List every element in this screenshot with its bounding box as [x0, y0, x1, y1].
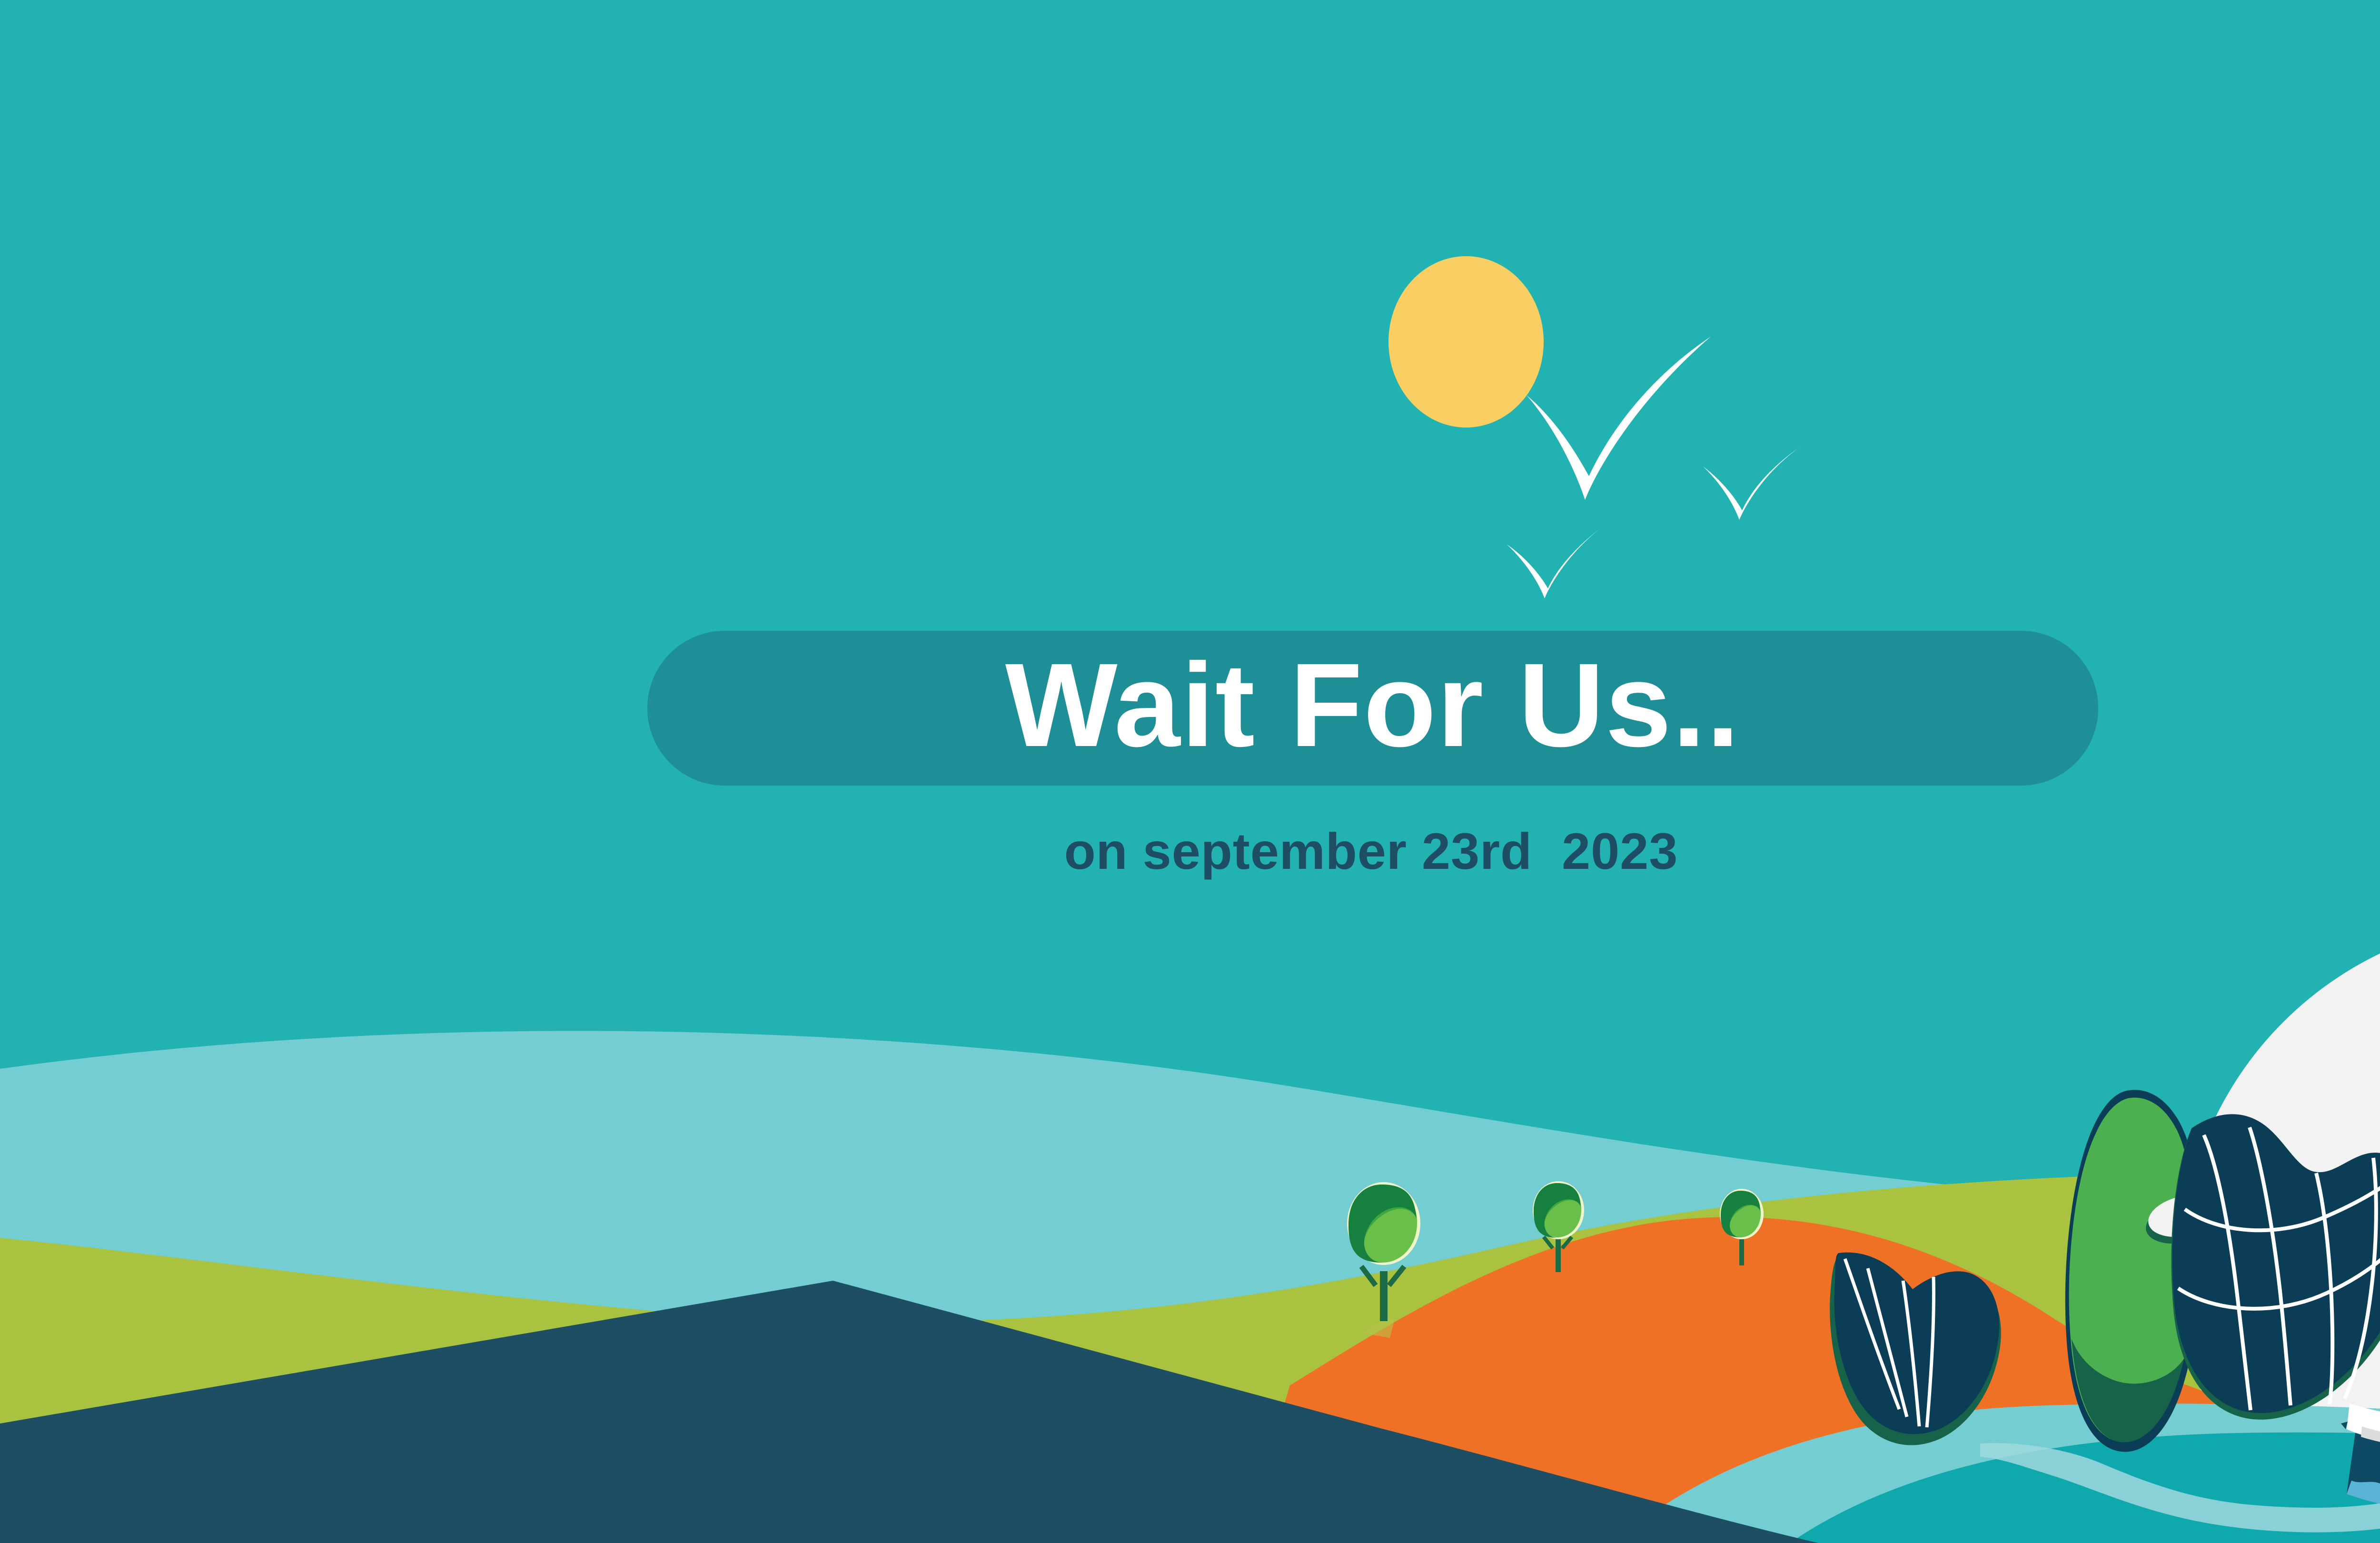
- tree-left-trunk: [1380, 1271, 1388, 1321]
- illustration-scene: [0, 0, 2380, 1543]
- event-banner: Wait For Us.. on september 23rd 2023: [0, 0, 2380, 1543]
- tree-middle-trunk: [1556, 1238, 1561, 1272]
- sun-icon: [1388, 256, 1544, 428]
